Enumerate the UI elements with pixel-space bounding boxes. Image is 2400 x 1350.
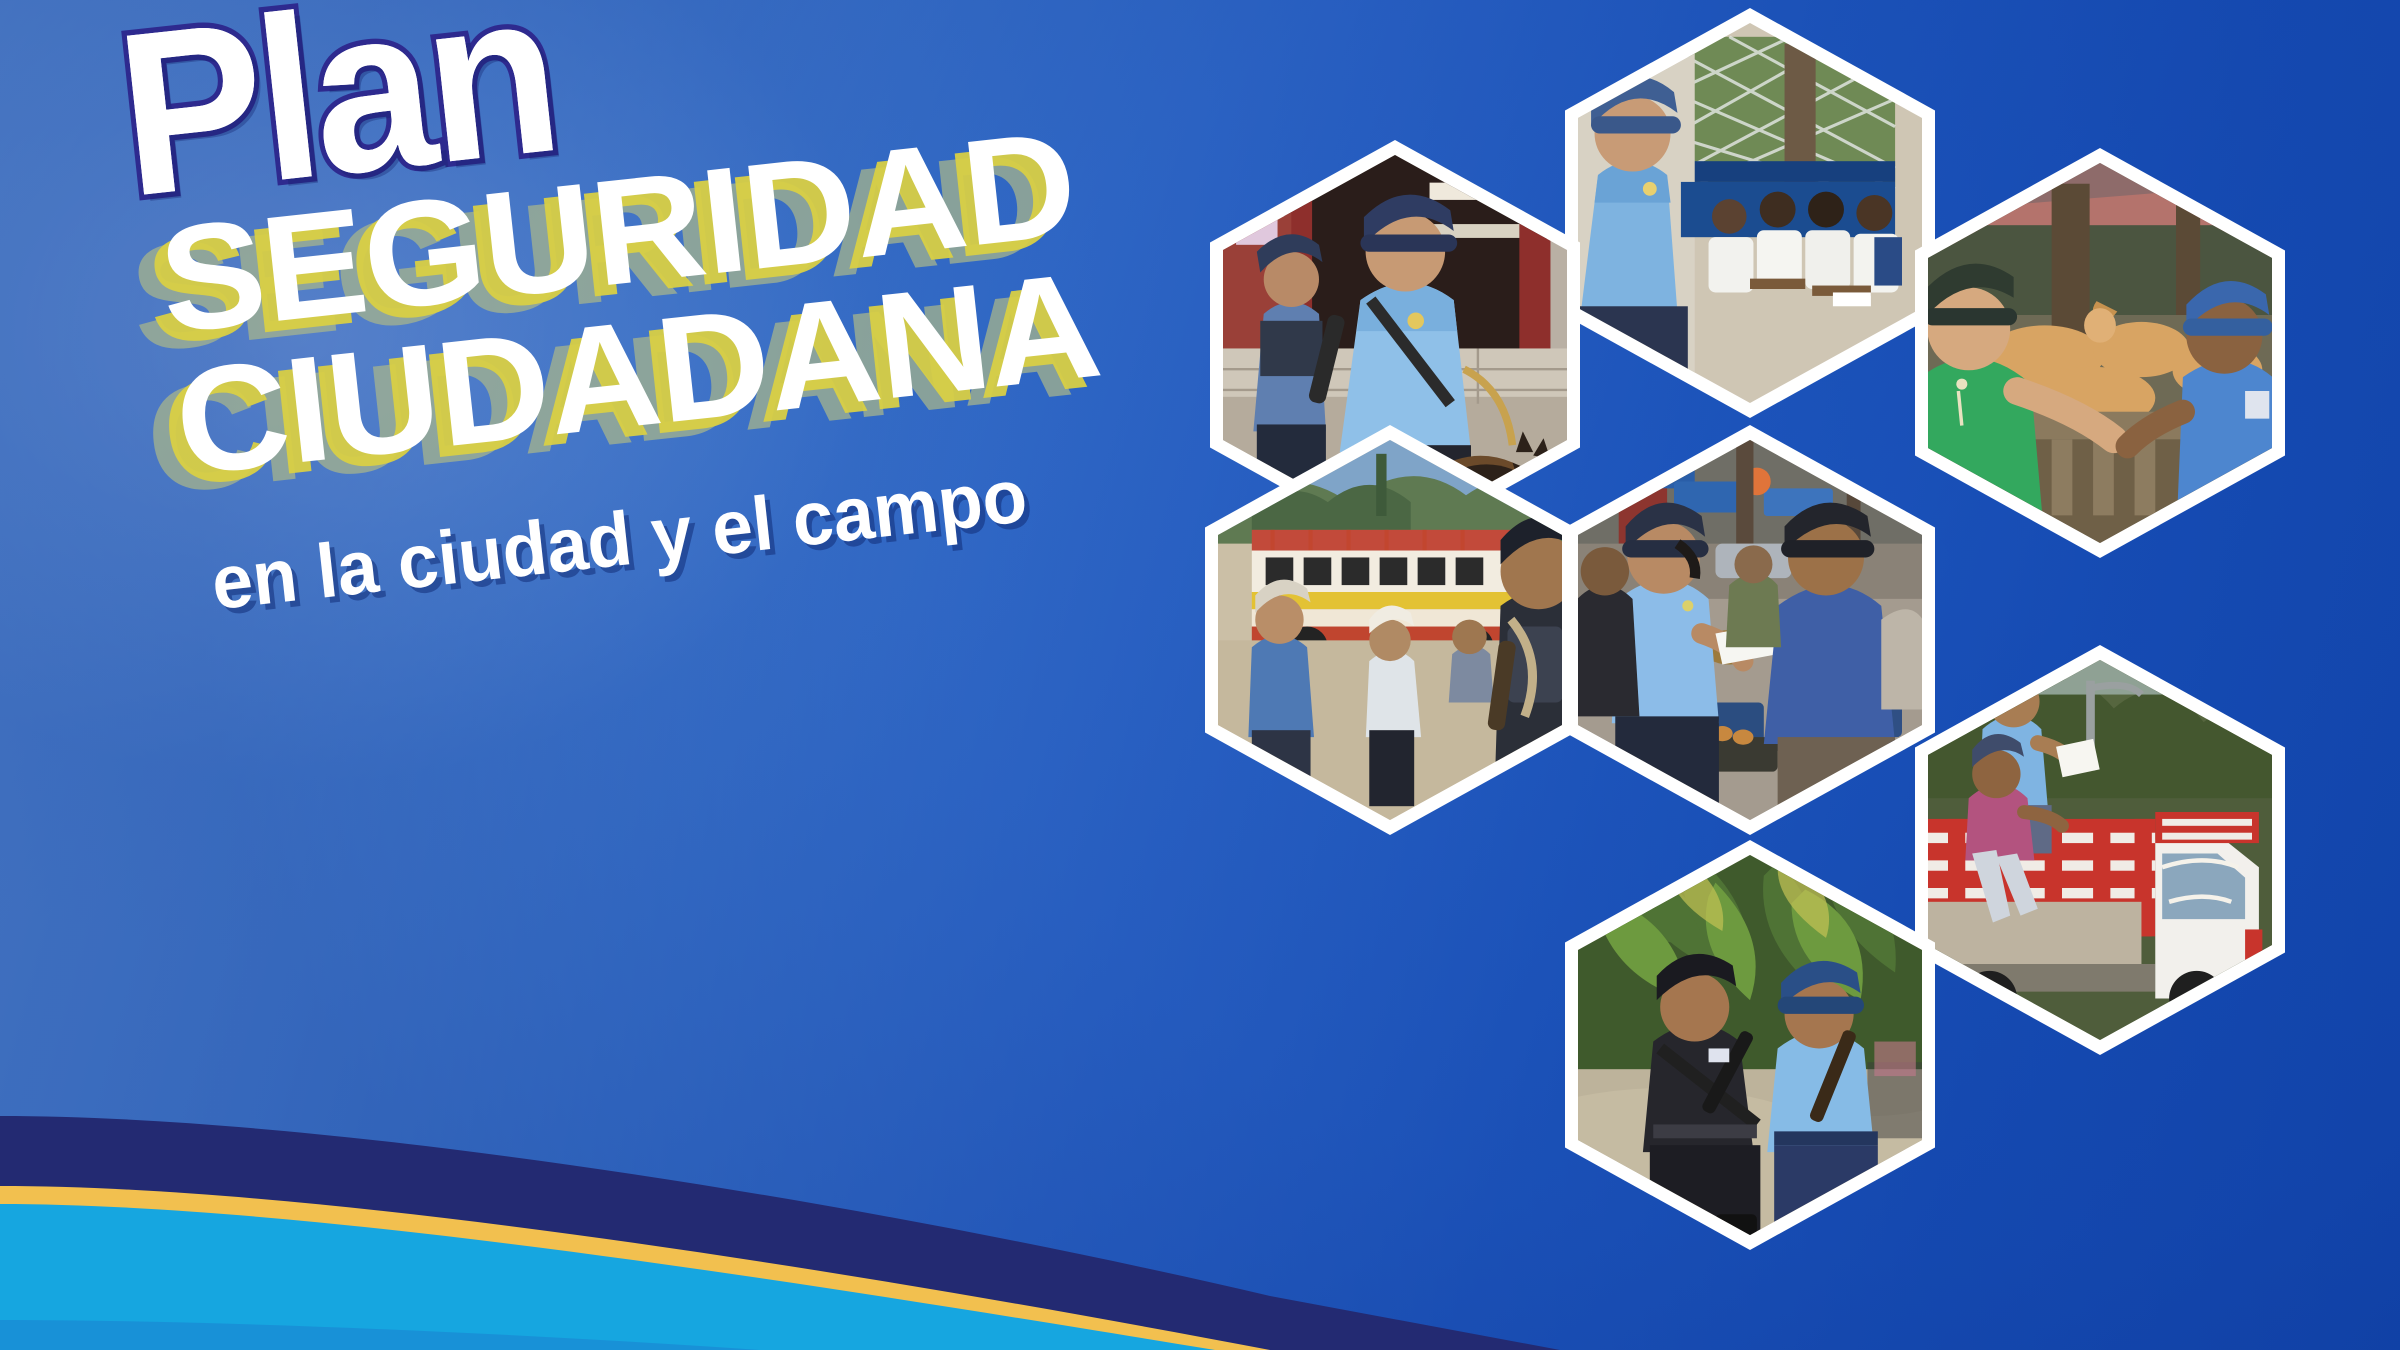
banner-canvas: Plan Plan SEGURIDAD SEGURIDAD SEGURIDAD … [0, 0, 2400, 1350]
photo-market-outreach-image [1578, 440, 1922, 820]
photo-hex-cattle-farm[interactable] [1915, 148, 2285, 558]
photo-hex-market-outreach[interactable] [1565, 425, 1935, 835]
photo-school-talk-image [1578, 23, 1922, 403]
photo-cattle-truck-image [1928, 660, 2272, 1040]
title-block: Plan Plan SEGURIDAD SEGURIDAD SEGURIDAD … [0, 0, 1143, 1008]
photo-rural-patrol-image [1578, 855, 1922, 1235]
photo-bus-terminal-image [1218, 440, 1562, 820]
photo-hex-rural-patrol[interactable] [1565, 840, 1935, 1250]
hexagon-photo-cluster [1150, 0, 2400, 1350]
photo-hex-school-talk[interactable] [1565, 8, 1935, 418]
photo-hex-bus-terminal[interactable] [1205, 425, 1575, 835]
photo-hex-cattle-truck[interactable] [1915, 645, 2285, 1055]
photo-cattle-farm-image [1928, 163, 2272, 543]
